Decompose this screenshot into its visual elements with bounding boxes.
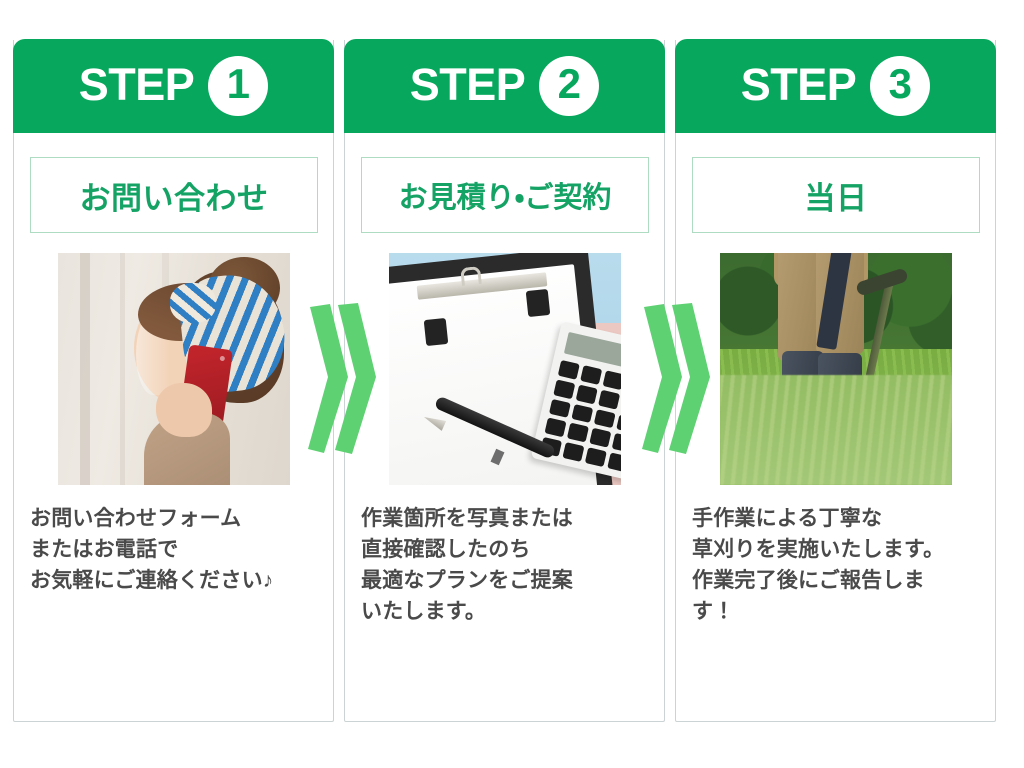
step-2-number: 2 [558, 63, 581, 105]
step-card-3: STEP 3 当日 手作業による丁寧な 草刈りを実施いたします。 [675, 40, 996, 722]
head-scarf-knot [170, 283, 216, 323]
clipboard-clip-right [526, 289, 551, 317]
step-card-2: STEP 2 お見積り・ご契約 [344, 40, 665, 722]
step-3-word: STEP [741, 62, 857, 107]
step-3-description: 手作業による丁寧な 草刈りを実施いたします。 作業完了後にご報告しま す！ [692, 503, 984, 627]
background-plank-1 [80, 253, 90, 485]
step-2-copy-line-1: 作業箇所を写真または [361, 503, 653, 534]
step-3-copy-line-2: 草刈りを実施いたします。 [692, 534, 984, 565]
step-2-title: お見積り・ご契約 [399, 174, 612, 216]
step-3-copy-line-4: す！ [692, 596, 984, 627]
step-1-number: 1 [227, 63, 250, 105]
step-1-title-box: お問い合わせ [30, 157, 318, 233]
double-chevron-right-icon-1 [308, 303, 376, 455]
clipboard-clip-left [424, 318, 449, 346]
step-3-header: STEP 3 [675, 39, 996, 133]
step-1-photo [58, 253, 290, 485]
clipboard-clip-loop [460, 266, 482, 286]
step-card-1: STEP 1 お問い合わせ お問い合わせフ [13, 40, 334, 722]
step-3-title: 当日 [805, 173, 868, 218]
step-2-copy-line-3: 最適なプランをご提案 [361, 565, 653, 596]
step-3-copy-line-1: 手作業による丁寧な [692, 503, 984, 534]
step-1-number-badge: 1 [208, 56, 268, 116]
step-2-copy-line-2: 直接確認したのち [361, 534, 653, 565]
step-2-title-box: お見積り・ご契約 [361, 157, 649, 233]
step-3-title-box: 当日 [692, 157, 980, 233]
step-1-word: STEP [79, 62, 195, 107]
step-1-description: お問い合わせフォーム またはお電話で お気軽にご連絡ください♪ [30, 503, 322, 596]
step-2-description: 作業箇所を写真または 直接確認したのち 最適なプランをご提案 いたします。 [361, 503, 653, 627]
double-chevron-right-icon-2 [642, 303, 710, 455]
step-2-copy-line-4: いたします。 [361, 596, 653, 627]
step-1-copy-line-2: またはお電話で [30, 534, 322, 565]
step-1-copy-line-3: お気軽にご連絡ください♪ [30, 565, 322, 596]
step-1-copy-line-1: お問い合わせフォーム [30, 503, 322, 534]
step-flow-diagram: STEP 1 お問い合わせ お問い合わせフ [0, 0, 1024, 768]
step-1-title: お問い合わせ [80, 173, 269, 218]
step-2-number-badge: 2 [539, 56, 599, 116]
step-3-number: 3 [889, 63, 912, 105]
step-2-word: STEP [410, 62, 526, 107]
step-3-copy-line-3: 作業完了後にご報告しま [692, 565, 984, 596]
step-2-photo [389, 253, 621, 485]
step-3-number-badge: 3 [870, 56, 930, 116]
step-3-photo [720, 253, 952, 485]
step-1-header: STEP 1 [13, 39, 334, 133]
grass-foreground [720, 375, 952, 485]
hand-shape [156, 383, 212, 437]
step-2-header: STEP 2 [344, 39, 665, 133]
